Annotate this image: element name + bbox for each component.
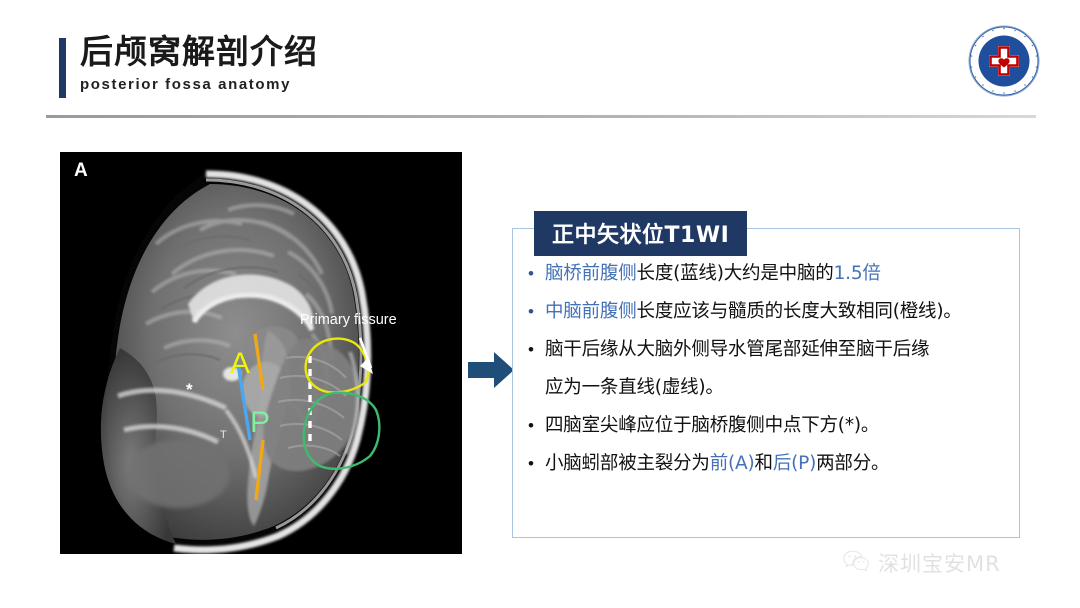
bullet-item: •四脑室尖峰应位于脑桥腹侧中点下方(*)。: [528, 410, 1020, 441]
bullet-marker: •: [528, 410, 545, 441]
bullet-item: •脑桥前腹侧长度(蓝线)大约是中脑的1.5倍: [528, 258, 1020, 289]
wechat-icon: [843, 550, 870, 577]
slide-header: 后颅窝解剖介绍 posterior fossa anatomy: [0, 0, 1080, 122]
bullet-list: •脑桥前腹侧长度(蓝线)大约是中脑的1.5倍•中脑前腹侧长度应该与髓质的长度大致…: [528, 258, 1020, 486]
mri-graphic: [60, 152, 462, 554]
bullet-marker: •: [528, 448, 545, 479]
bullet-item: 应为一条直线(虚线)。: [528, 372, 1020, 403]
header-divider: [46, 115, 1036, 118]
title-block: 后颅窝解剖介绍 posterior fossa anatomy: [80, 31, 318, 95]
bullet-text: 脑干后缘从大脑外侧导水管尾部延伸至脑干后缘: [545, 334, 929, 365]
bullet-text: 脑桥前腹侧长度(蓝线)大约是中脑的1.5倍: [545, 258, 881, 289]
watermark-text: 深圳宝安MR: [878, 548, 1001, 578]
bullet-marker: •: [528, 258, 545, 289]
info-box-header: 正中矢状位T1WI: [534, 211, 747, 256]
flow-arrow-icon: [468, 350, 514, 390]
page-subtitle: posterior fossa anatomy: [80, 75, 318, 95]
hospital-logo-icon: [967, 24, 1041, 98]
mri-panel-label: A: [74, 160, 88, 182]
bullet-text: 应为一条直线(虚线)。: [545, 372, 724, 403]
bullet-text: 中脑前腹侧长度应该与髓质的长度大致相同(橙线)。: [545, 296, 962, 327]
watermark: 深圳宝安MR: [843, 548, 1001, 578]
bullet-item: •中脑前腹侧长度应该与髓质的长度大致相同(橙线)。: [528, 296, 1020, 327]
bullet-marker: •: [528, 296, 545, 327]
bullet-item: •脑干后缘从大脑外侧导水管尾部延伸至脑干后缘: [528, 334, 1020, 365]
page-title: 后颅窝解剖介绍: [80, 31, 318, 73]
bullet-text: 小脑蚓部被主裂分为前(A)和后(P)两部分。: [545, 448, 889, 479]
bullet-marker: •: [528, 334, 545, 365]
title-accent-bar: [59, 38, 66, 98]
bullet-item: •小脑蚓部被主裂分为前(A)和后(P)两部分。: [528, 448, 1020, 479]
bullet-text: 四脑室尖峰应位于脑桥腹侧中点下方(*)。: [545, 410, 879, 441]
mri-sagittal-image: A Primary fissure A P * T: [60, 152, 462, 554]
